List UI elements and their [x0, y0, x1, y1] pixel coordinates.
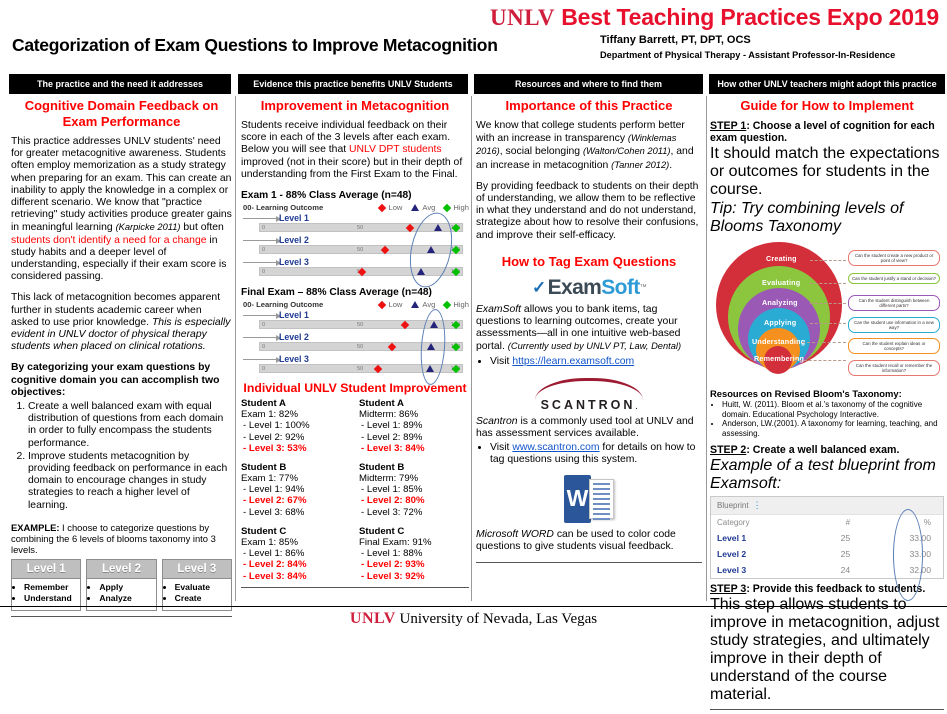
bloom-label-understanding: Understanding — [752, 337, 805, 346]
student-entry: Student C Exam 1: 85% Level 1: 86% Level… — [241, 526, 351, 583]
arrow-icon — [243, 315, 277, 316]
poster-canvas: UNLV Best Teaching Practices Expo 2019 C… — [0, 0, 947, 629]
blueprint-panel: Blueprint ⋮ Category # % Level 1 25 33.0… — [710, 496, 944, 579]
chart-row-label: Level 3 — [279, 257, 309, 267]
leader-line — [802, 342, 846, 343]
examsoft-name: ExamSoft — [476, 304, 521, 315]
arrow-icon — [243, 240, 277, 241]
chart-bar-track: 0 50 100 — [259, 223, 463, 232]
step-3-title: : Provide this feedback to students. — [746, 583, 925, 595]
bloom-callout-analyzing: Can the student distinguish between diff… — [848, 295, 940, 311]
visit-label: Visit — [490, 442, 512, 453]
list-item: Level 2: 89% — [361, 432, 469, 444]
diamond-red-icon — [378, 203, 386, 211]
column-header-bands: The practice and the need it addresses E… — [0, 74, 947, 94]
examsoft-link[interactable]: https://learn.examsoft.com — [512, 356, 634, 367]
examsoft-part1: Exam — [548, 276, 602, 300]
scantron-wordmark: SCANTRON. — [476, 398, 702, 412]
step-2-sub: Example of a test blueprint from Examsof… — [710, 457, 944, 493]
tick-0: 0 — [262, 344, 265, 350]
bloom-label-evaluating: Evaluating — [762, 278, 800, 287]
bloom-callout-remembering: Can the student recall or remember the i… — [848, 360, 940, 376]
list-item: Create a well balanced exam with equal d… — [28, 401, 232, 450]
list-item: Level 3: 92% — [361, 571, 469, 583]
student-entry: Student A Midterm: 86% Level 1: 89% Leve… — [359, 398, 469, 455]
level-box-3-items: Evaluate Create — [163, 582, 231, 604]
col2-section-title: Improvement in Metacognition — [241, 98, 469, 114]
tick-50: 50 — [357, 225, 363, 231]
chart-exam-1-legend: 00- Learning Outcome Low Avg High — [241, 203, 469, 212]
bloom-callout-creating: Can the student create a new product or … — [848, 250, 940, 266]
col1-p1-a: This practice addresses UNLV students' n… — [11, 136, 232, 233]
level-box-3-header: Level 3 — [163, 560, 231, 579]
resources-list: Huitt, W. (2011). Bloom et al.'s taxonom… — [710, 400, 944, 438]
level-box-2-header: Level 2 — [87, 560, 155, 579]
col2-individual-title: Individual UNLV Student Improvement — [241, 380, 469, 396]
col2-intro-b: improved (not in their score) but in the… — [241, 157, 462, 180]
author-department: Department of Physical Therapy - Assista… — [600, 49, 895, 62]
student-column-right: Student A Midterm: 86% Level 1: 89% Leve… — [359, 398, 469, 582]
footer-rule — [0, 606, 947, 607]
page-title: Categorization of Exam Questions to Impr… — [12, 35, 498, 56]
list-item: Level 3: 53% — [243, 443, 351, 455]
list-item: Level 1: 94% — [243, 484, 351, 496]
student-entry: Student C Final Exam: 91% Level 1: 88% L… — [359, 526, 469, 583]
examsoft-tm: ™ — [640, 284, 646, 291]
bloom-callout-applying: Can the student use information in a new… — [848, 317, 940, 333]
marker-avg — [430, 321, 438, 328]
col2-intro-highlight: UNLV DPT students — [349, 144, 442, 155]
list-item: Improve students metacognition by provid… — [28, 451, 232, 512]
word-line — [593, 483, 610, 485]
leader-line — [810, 323, 846, 324]
blueprint-count: 25 — [809, 546, 856, 562]
list-item: Level 1: 100% — [243, 420, 351, 432]
col1-paragraph-1: This practice addresses UNLV students' n… — [11, 136, 232, 283]
step-2-label: STEP 2 — [710, 444, 746, 456]
chart-row-label: Level 1 — [279, 213, 309, 223]
col1-objectives-lead: By categorizing your exam questions by c… — [11, 362, 232, 399]
legend-low-label: Low — [388, 300, 402, 309]
scantron-links: Visit www.scantron.com for details on ho… — [476, 442, 702, 466]
list-item: Level 2: 92% — [243, 432, 351, 444]
student-score: Midterm: 86% — [359, 409, 469, 420]
list-item: Understand — [24, 593, 80, 604]
chart-row-level-2: Level 2 0 50 100 — [241, 332, 469, 354]
chart-row-level-1: Level 1 0 50 100 — [241, 213, 469, 235]
tick-50: 50 — [357, 366, 363, 372]
poster-header: UNLV Best Teaching Practices Expo 2019 — [0, 2, 947, 34]
author-name: Tiffany Barrett, PT, DPT, OCS — [600, 34, 895, 47]
band-evidence: Evidence this practice benefits UNLV Stu… — [238, 74, 468, 94]
column-1: Cognitive Domain Feedback on Exam Perfor… — [11, 96, 232, 621]
level-box-2: Level 2 Apply Analyze — [86, 559, 156, 611]
col3-rule — [476, 562, 702, 563]
blueprint-pct: 33.00 — [856, 546, 943, 562]
legend-high-label: High — [453, 300, 469, 309]
step-3-label: STEP 3 — [710, 583, 746, 595]
student-name: Student B — [241, 462, 351, 473]
word-line — [593, 518, 610, 520]
leader-line — [810, 303, 846, 304]
student-name: Student B — [359, 462, 469, 473]
bloom-callout-understanding: Can the student explain ideas or concept… — [848, 338, 940, 354]
band-adoption: How other UNLV teachers might adopt this… — [709, 74, 945, 94]
list-item: Visit www.scantron.com for details on ho… — [490, 442, 702, 466]
marker-avg — [427, 246, 435, 253]
arrow-icon — [243, 262, 277, 263]
arrow-icon — [243, 218, 277, 219]
list-item: Level 1: 89% — [361, 420, 469, 432]
diamond-green-icon — [443, 300, 451, 308]
tick-0: 0 — [262, 322, 265, 328]
col3-citation-2: (Walton/Cohen 2011) — [583, 146, 671, 156]
step-2-heading: STEP 2: Create a well balanced exam. — [710, 444, 944, 456]
bloom-callout-evaluating: Can the student justify a stand or decis… — [848, 273, 940, 284]
chart-row-label: Level 3 — [279, 354, 309, 364]
list-item: Level 2: 84% — [243, 559, 351, 571]
expo-title: Best Teaching Practices Expo 2019 — [561, 4, 939, 30]
legend-item-low: Low — [379, 203, 402, 212]
level-box-3: Level 3 Evaluate Create — [162, 559, 232, 611]
student-levels: Level 1: 85% Level 2: 80% Level 3: 72% — [359, 484, 469, 519]
col1-example-note: EXAMPLE: I choose to categorize question… — [11, 522, 232, 555]
blueprint-count: 24 — [809, 562, 856, 578]
legend-low-label: Low — [388, 203, 402, 212]
expo-title-line: UNLV Best Teaching Practices Expo 2019 — [490, 4, 939, 31]
blueprint-category: Level 2 — [711, 546, 809, 562]
word-name: Microsoft WORD — [476, 529, 554, 540]
list-item: Level 1: 88% — [361, 548, 469, 560]
scantron-arc-icon — [535, 378, 643, 400]
col3-paragraph-2: By providing feedback to students on the… — [476, 181, 702, 242]
table-row: Level 3 24 32.00 — [711, 562, 943, 578]
word-page-icon — [589, 479, 614, 519]
list-item: Analyze — [99, 593, 155, 604]
legend-outcome-label: 00- Learning Outcome — [243, 203, 323, 212]
footer-university-name: University of Nevada, Las Vegas — [396, 611, 597, 627]
student-name: Student A — [359, 398, 469, 409]
examsoft-note: (Currently used by UNLV PT, Law, Dental) — [508, 341, 681, 351]
col1-p1-highlight: students don't identify a need for a cha… — [11, 235, 207, 246]
examsoft-links: Visit https://learn.examsoft.com — [476, 356, 702, 368]
student-levels: Level 1: 94% Level 2: 67% Level 3: 68% — [241, 484, 351, 519]
examsoft-part2: Soft — [601, 276, 639, 300]
tick-50: 50 — [357, 344, 363, 350]
tick-0: 0 — [262, 225, 265, 231]
scantron-link[interactable]: www.scantron.com — [512, 442, 599, 453]
student-name: Student C — [241, 526, 351, 537]
legend-item-low: Low — [379, 300, 402, 309]
leader-line — [794, 360, 846, 361]
blueprint-count: 25 — [809, 530, 856, 546]
list-item: Level 3: 68% — [243, 507, 351, 519]
step-2-title: : Create a well balanced exam. — [746, 444, 899, 456]
student-score: Final Exam: 91% — [359, 537, 469, 548]
footer-line: UNLV University of Nevada, Las Vegas — [0, 610, 947, 628]
chart-row-level-3: Level 3 0 50 100 — [241, 257, 469, 279]
blueprint-table: Category # % Level 1 25 33.00 Level 2 25… — [711, 515, 943, 578]
list-item: Evaluate — [175, 582, 231, 593]
col1-p1-citation: (Karpicke 2011) — [116, 222, 181, 232]
column-divider-3 — [706, 96, 707, 601]
triangle-navy-icon — [411, 204, 419, 211]
col3-tag-title: How to Tag Exam Questions — [476, 254, 702, 270]
blueprint-category: Level 3 — [711, 562, 809, 578]
chart-final-exam: Final Exam – 88% Class Average (n=48) 00… — [241, 287, 469, 376]
chart-row-level-3: Level 3 0 50 100 — [241, 354, 469, 376]
unlv-wordmark-header: UNLV — [490, 5, 555, 30]
student-levels: Level 1: 100% Level 2: 92% Level 3: 53% — [241, 420, 351, 455]
col3-word-text: Microsoft WORD can be used to color code… — [476, 529, 702, 553]
student-entry: Student B Midterm: 79% Level 1: 85% Leve… — [359, 462, 469, 519]
legend-avg-label: Avg — [422, 203, 435, 212]
list-item: Level 1: 86% — [243, 548, 351, 560]
arrow-icon — [243, 337, 277, 338]
scantron-name: Scantron — [476, 416, 518, 427]
tick-50: 50 — [357, 322, 363, 328]
column-3: Importance of this Practice We know that… — [476, 96, 702, 567]
word-line — [593, 503, 610, 505]
student-column-left: Student A Exam 1: 82% Level 1: 100% Leve… — [241, 398, 351, 582]
chart-final-exam-legend: 00- Learning Outcome Low Avg High — [241, 300, 469, 309]
unlv-wordmark-footer: UNLV — [350, 610, 396, 627]
col3-citation-3: (Tanner 2012) — [611, 160, 669, 170]
word-line — [593, 508, 610, 510]
col3-paragraph-1: We know that college students perform be… — [476, 120, 702, 172]
tick-50: 50 — [357, 247, 363, 253]
resources-heading: Resources on Revised Bloom's Taxonomy: — [710, 388, 944, 399]
marker-avg — [427, 343, 435, 350]
student-score: Exam 1: 85% — [241, 537, 351, 548]
diamond-red-icon — [378, 300, 386, 308]
examsoft-wordmark: ✓ExamSoft™ — [532, 276, 646, 300]
blueprint-col-count: # — [809, 515, 856, 530]
list-item: Level 2: 67% — [243, 495, 351, 507]
step-1-label: STEP 1 — [710, 120, 746, 132]
col2-intro: Students receive individual feedback on … — [241, 120, 469, 181]
scantron-tm: . — [635, 404, 637, 411]
col3-p1-d: . — [669, 160, 672, 171]
chart-exam-1: Exam 1 - 88% Class Average (n=48) 00- Le… — [241, 190, 469, 279]
scantron-word: SCANTRON — [541, 398, 636, 412]
marker-avg — [417, 268, 425, 275]
blueprint-pct: 32.00 — [856, 562, 943, 578]
list-item: Visit https://learn.examsoft.com — [490, 356, 702, 368]
word-line — [593, 493, 610, 495]
blueprint-pct: 33.00 — [856, 530, 943, 546]
col2-rule — [241, 587, 469, 588]
table-row: Level 2 25 33.00 — [711, 546, 943, 562]
student-entry: Student A Exam 1: 82% Level 1: 100% Leve… — [241, 398, 351, 455]
student-levels: Level 1: 86% Level 2: 84% Level 3: 84% — [241, 548, 351, 583]
student-score: Midterm: 79% — [359, 473, 469, 484]
student-improvement-grid: Student A Exam 1: 82% Level 1: 100% Leve… — [241, 398, 469, 582]
list-item: Level 3: 84% — [243, 571, 351, 583]
band-resources: Resources and where to find them — [474, 74, 703, 94]
level-box-1: Level 1 Remember Understand — [11, 559, 81, 611]
poster-footer: UNLV University of Nevada, Las Vegas — [0, 606, 947, 628]
column-2: Improvement in Metacognition Students re… — [241, 96, 469, 592]
chart-row-level-1: Level 1 0 50 100 — [241, 310, 469, 332]
blueprint-col-category: Category — [711, 515, 809, 530]
leader-line — [810, 283, 846, 284]
checkmark-icon: ✓ — [532, 278, 546, 298]
student-score: Exam 1: 77% — [241, 473, 351, 484]
col3-scantron-text: Scantron is a commonly used tool at UNLV… — [476, 416, 702, 440]
leader-line — [810, 260, 846, 261]
band-practice-need: The practice and the need it addresses — [9, 74, 231, 94]
list-item: Apply — [99, 582, 155, 593]
triangle-navy-icon — [411, 301, 419, 308]
list-item: Anderson, LW.(2001). A taxonomy for lear… — [722, 419, 944, 438]
col1-p1-b: but often — [181, 222, 224, 233]
blooms-taxonomy-diagram: Creating Evaluating Analyzing Applying U… — [710, 238, 940, 386]
column-divider-2 — [471, 96, 472, 601]
chart-row-level-2: Level 2 0 50 100 — [241, 235, 469, 257]
word-line — [593, 488, 610, 490]
col3-p1-b: , social belonging — [500, 146, 583, 157]
arrow-icon — [243, 359, 277, 360]
author-block: Tiffany Barrett, PT, DPT, OCS Department… — [600, 34, 895, 62]
student-levels: Level 1: 89% Level 2: 89% Level 3: 84% — [359, 420, 469, 455]
step-1-tip: Tip: Try combining levels of Blooms Taxo… — [710, 200, 944, 236]
list-item: Level 1: 85% — [361, 484, 469, 496]
student-name: Student A — [241, 398, 351, 409]
tick-0: 0 — [262, 366, 265, 372]
list-item: Huitt, W. (2011). Bloom et al.'s taxonom… — [722, 400, 944, 419]
bloom-level-boxes: Level 1 Remember Understand Level 2 Appl… — [11, 559, 232, 611]
legend-outcome-label: 00- Learning Outcome — [243, 300, 323, 309]
col4-rule — [710, 709, 944, 710]
level-box-2-items: Apply Analyze — [87, 582, 155, 604]
step-1-body: It should match the expectations or outc… — [710, 145, 944, 199]
tick-0: 0 — [262, 269, 265, 275]
list-item: Level 2: 93% — [361, 559, 469, 571]
microsoft-word-icon: W — [564, 475, 614, 523]
word-letter: W — [564, 475, 591, 523]
word-line — [593, 513, 610, 515]
word-line — [593, 498, 610, 500]
blueprint-category: Level 1 — [711, 530, 809, 546]
title-row: Categorization of Exam Questions to Impr… — [0, 33, 947, 71]
visit-label: Visit — [490, 356, 512, 367]
col4-section-title: Guide for How to Implement — [710, 98, 944, 114]
blueprint-panel-title: Blueprint — [717, 501, 749, 510]
col1-objectives-list: Create a well balanced exam with equal d… — [11, 401, 232, 512]
level-box-1-header: Level 1 — [12, 560, 80, 579]
diamond-green-icon — [443, 203, 451, 211]
col3-examsoft-text: ExamSoft allows you to bank items, tag q… — [476, 304, 702, 354]
col1-section-title: Cognitive Domain Feedback on Exam Perfor… — [11, 98, 232, 130]
chart-row-label: Level 1 — [279, 310, 309, 320]
student-levels: Level 1: 88% Level 2: 93% Level 3: 92% — [359, 548, 469, 583]
step-3-heading: STEP 3: Provide this feedback to student… — [710, 583, 944, 595]
chart-exam-1-title: Exam 1 - 88% Class Average (n=48) — [241, 190, 469, 201]
bloom-label-remembering: Remembering — [754, 354, 804, 363]
table-header-row: Category # % — [711, 515, 943, 530]
step-1-heading: STEP 1: Choose a level of cognition for … — [710, 120, 944, 144]
legend-item-avg: Avg — [411, 203, 435, 212]
col1-paragraph-2: This lack of metacognition becomes appar… — [11, 292, 232, 353]
col3-section-title: Importance of this Practice — [476, 98, 702, 114]
example-label: EXAMPLE: — [11, 522, 59, 533]
legend-avg-label: Avg — [422, 300, 435, 309]
column-divider-1 — [235, 96, 236, 601]
student-entry: Student B Exam 1: 77% Level 1: 94% Level… — [241, 462, 351, 519]
legend-high-label: High — [453, 203, 469, 212]
student-score: Exam 1: 82% — [241, 409, 351, 420]
chart-final-exam-title: Final Exam – 88% Class Average (n=48) — [241, 287, 469, 298]
examsoft-logo: ✓ExamSoft™ — [476, 276, 702, 300]
list-item: Create — [175, 593, 231, 604]
scantron-logo: SCANTRON. — [476, 378, 702, 412]
legend-item-avg: Avg — [411, 300, 435, 309]
chart-row-label: Level 2 — [279, 332, 309, 342]
blueprint-col-pct: % — [856, 515, 943, 530]
blueprint-panel-title-bar: Blueprint ⋮ — [711, 497, 943, 515]
marker-avg — [426, 365, 434, 372]
bloom-label-analyzing: Analyzing — [762, 298, 798, 307]
marker-avg — [434, 224, 442, 231]
list-item: Remember — [24, 582, 80, 593]
tick-0: 0 — [262, 247, 265, 253]
list-item: Level 3: 84% — [361, 443, 469, 455]
student-name: Student C — [359, 526, 469, 537]
legend-item-high: High — [444, 203, 469, 212]
level-box-1-items: Remember Understand — [12, 582, 80, 604]
list-item: Level 2: 80% — [361, 495, 469, 507]
table-row: Level 1 25 33.00 — [711, 530, 943, 546]
sort-icon[interactable]: ⋮ — [753, 500, 762, 511]
list-item: Level 3: 72% — [361, 507, 469, 519]
bloom-label-creating: Creating — [766, 254, 797, 263]
legend-item-high: High — [444, 300, 469, 309]
bloom-label-applying: Applying — [764, 318, 796, 327]
chart-row-label: Level 2 — [279, 235, 309, 245]
